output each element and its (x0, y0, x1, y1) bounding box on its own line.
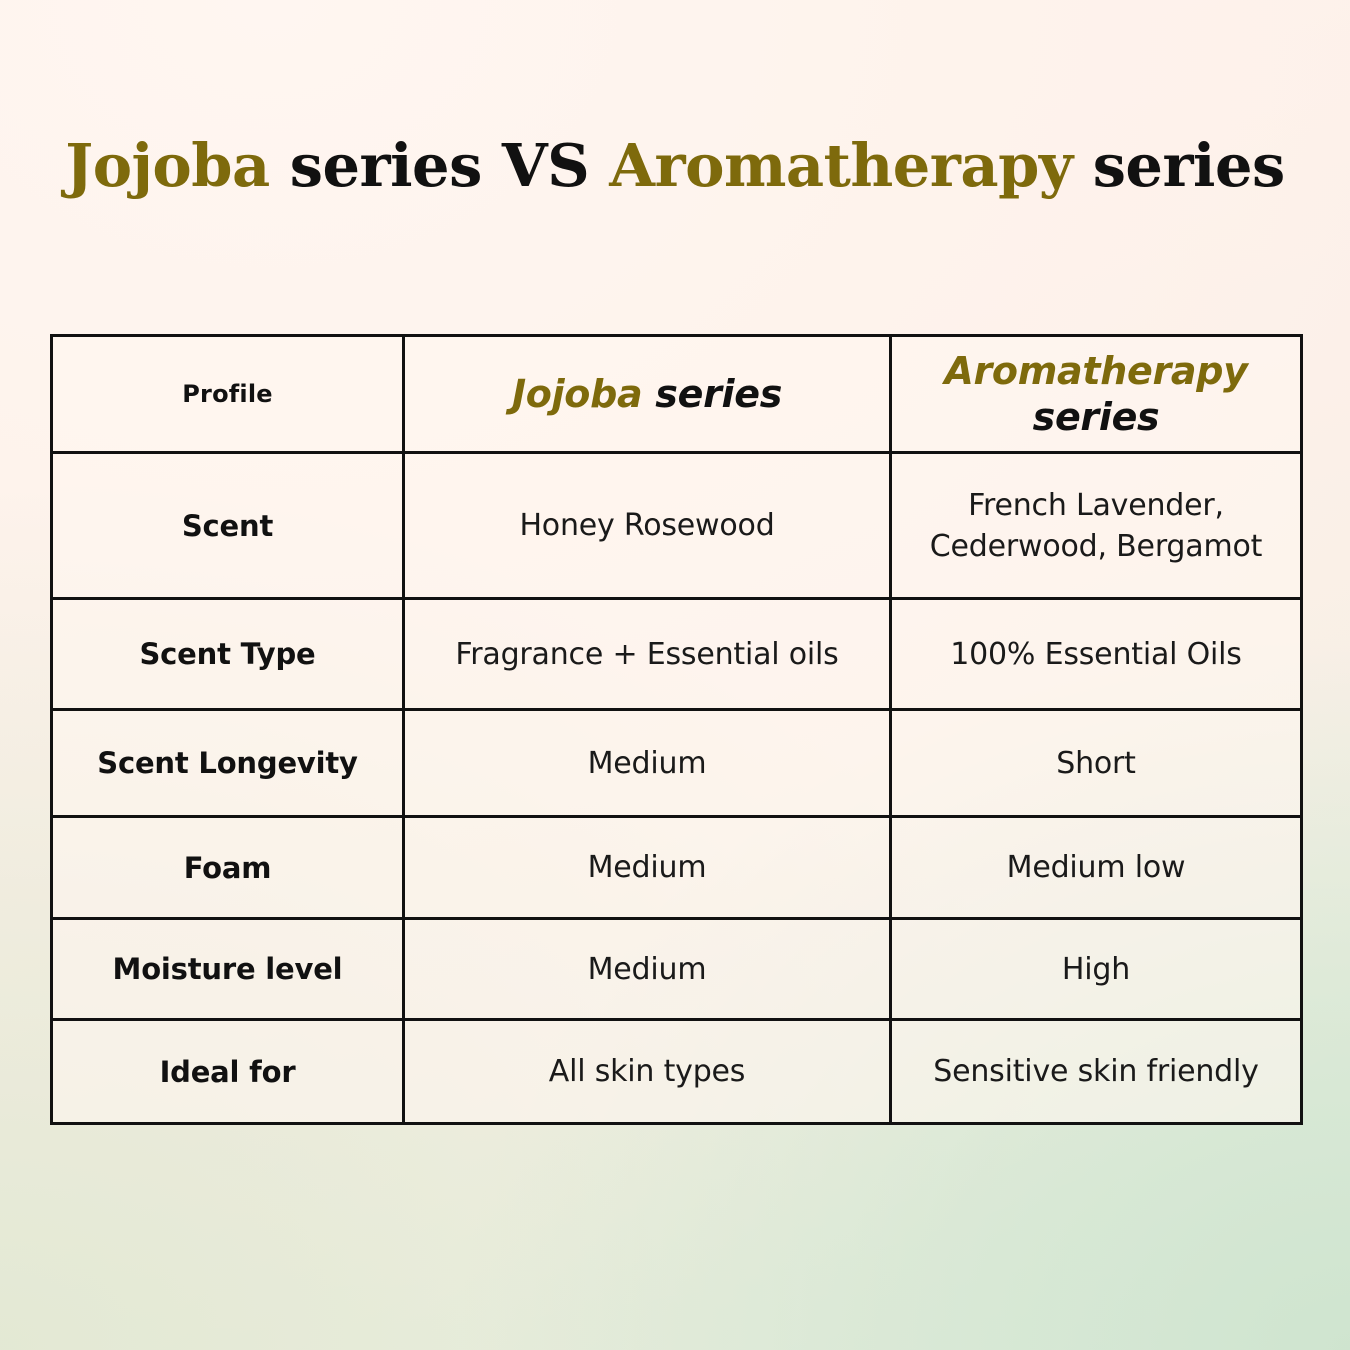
column-header-profile: Profile (52, 336, 404, 453)
title-segment-jojoba: Jojoba (65, 131, 269, 200)
cell-aroma-scent-type: 100% Essential Oils (891, 599, 1302, 710)
table-header-row: Profile Jojoba series Aromatherapyseries (52, 336, 1302, 453)
page-title: Jojoba series VS Aromatherapy series (0, 131, 1350, 201)
cell-aroma-moisture-level: High (891, 919, 1302, 1020)
table-row: Scent Type Fragrance + Essential oils 10… (52, 599, 1302, 710)
title-segment-series: series (1073, 131, 1285, 200)
cell-aroma-ideal-for: Sensitive skin friendly (891, 1020, 1302, 1124)
row-label-foam: Foam (52, 817, 404, 919)
column-header-jojoba-word: Jojoba (512, 372, 642, 416)
cell-aroma-scent: French Lavender,Cederwood, Bergamot (891, 453, 1302, 599)
row-label-scent-type: Scent Type (52, 599, 404, 710)
table-row: Moisture level Medium High (52, 919, 1302, 1020)
cell-jojoba-moisture-level: Medium (404, 919, 891, 1020)
column-header-aromatherapy-word: Aromatherapy (944, 349, 1247, 393)
cell-jojoba-scent: Honey Rosewood (404, 453, 891, 599)
row-label-ideal-for: Ideal for (52, 1020, 404, 1124)
cell-aroma-scent-line1: French Lavender, (968, 488, 1224, 523)
table-row: Scent Honey Rosewood French Lavender,Ced… (52, 453, 1302, 599)
cell-aroma-foam: Medium low (891, 817, 1302, 919)
title-segment-aromatherapy: Aromatherapy (609, 131, 1072, 200)
cell-jojoba-scent-type: Fragrance + Essential oils (404, 599, 891, 710)
cell-jojoba-scent-longevity: Medium (404, 710, 891, 817)
row-label-scent: Scent (52, 453, 404, 599)
column-header-jojoba-series: Jojoba series (404, 336, 891, 453)
page-root: Jojoba series VS Aromatherapy series Pro… (0, 0, 1350, 1350)
table-row: Ideal for All skin types Sensitive skin … (52, 1020, 1302, 1124)
cell-jojoba-ideal-for: All skin types (404, 1020, 891, 1124)
comparison-table: Profile Jojoba series Aromatherapyseries… (50, 334, 1303, 1125)
table-row: Foam Medium Medium low (52, 817, 1302, 919)
title-segment-series-vs: series VS (270, 131, 610, 200)
column-header-aromatherapy-series-word: series (1033, 395, 1160, 439)
cell-aroma-scent-line2: Cederwood, Bergamot (930, 529, 1262, 564)
cell-aroma-scent-longevity: Short (891, 710, 1302, 817)
row-label-moisture-level: Moisture level (52, 919, 404, 1020)
row-label-scent-longevity: Scent Longevity (52, 710, 404, 817)
column-header-aromatherapy-series: Aromatherapyseries (891, 336, 1302, 453)
table-row: Scent Longevity Medium Short (52, 710, 1302, 817)
cell-jojoba-foam: Medium (404, 817, 891, 919)
column-header-jojoba-series-word: series (642, 372, 782, 416)
